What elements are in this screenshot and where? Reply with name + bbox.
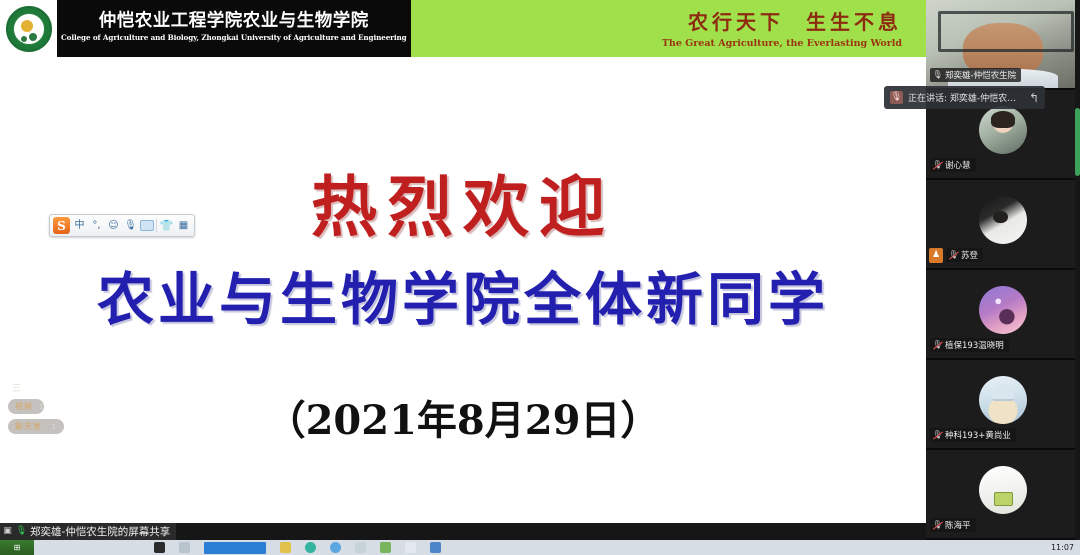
taskbar-active-window[interactable] [204, 542, 266, 554]
mic-icon: 🎙 [16, 526, 27, 537]
participant-video-strip[interactable]: 🎙 郑奕雄-仲恺农生院 🎙 谢心慧 ♟ 🎙 苏登 🎙 植保193温晓明 [926, 0, 1080, 540]
input-mode-chinese-icon[interactable]: 中 [72, 218, 87, 233]
participant-tile-5[interactable]: 🎙 陈海平 [926, 450, 1080, 540]
taskbar-app-icon-6[interactable] [355, 542, 366, 553]
slide-body: 热烈欢迎 农业与生物学院全体新同学 （2021年8月29日） [0, 57, 926, 523]
participant-tile-0[interactable]: 🎙 郑奕雄-仲恺农生院 [926, 0, 1080, 90]
participant-name: 植保193温晓明 [945, 339, 1004, 351]
mic-muted-icon: 🎙 [933, 161, 942, 170]
share-owner-label: ▣ 🎙 郑奕雄-仲恺农生院的屏幕共享 [0, 523, 176, 540]
windows-taskbar[interactable]: ⊞ 11:07 [0, 540, 1080, 555]
share-footer-bar: ▣ 🎙 郑奕雄-仲恺农生院的屏幕共享 [0, 523, 926, 540]
slide-audience-title: 农业与生物学院全体新同学 [0, 254, 926, 336]
motto-cn: 农行天下生生不息 [688, 6, 902, 35]
taskbar-app-icon-5[interactable] [330, 542, 341, 553]
mic-icon: 🎙 [933, 71, 942, 80]
participant-name: 郑奕雄-仲恺农生院 [945, 69, 1016, 81]
participant-tile-3[interactable]: 🎙 植保193温晓明 [926, 270, 1080, 360]
participant-scrollbar[interactable] [1075, 0, 1080, 540]
soft-keyboard-icon[interactable] [140, 220, 154, 231]
ghost-note: 三 [12, 381, 21, 394]
mic-muted-icon: 🎙 [949, 251, 958, 260]
share-owner-text: 郑奕雄-仲恺农生院的屏幕共享 [30, 524, 170, 539]
start-button-icon[interactable]: ⊞ [0, 540, 34, 555]
mic-muted-icon: 🎙 [933, 431, 942, 440]
participant-tile-2[interactable]: ♟ 🎙 苏登 [926, 180, 1080, 270]
floating-chat-pill-count: 1 [52, 423, 57, 431]
participant-name: 种科193+黄尚业 [945, 429, 1011, 441]
mic-muted-icon: 🎙 [933, 341, 942, 350]
floating-video-pill-label: 视频 [15, 401, 33, 412]
participant-name: 陈海平 [945, 519, 971, 531]
taskbar-app-icon-7[interactable] [380, 542, 391, 553]
taskbar-items[interactable] [154, 542, 441, 554]
participant-name-chip: 🎙 苏登 [946, 248, 983, 262]
collapse-icon[interactable]: ↰ [1029, 92, 1039, 104]
participant-scrollbar-thumb[interactable] [1075, 108, 1080, 176]
participant-name-chip: 🎙 植保193温晓明 [930, 338, 1009, 352]
taskbar-app-icon-2[interactable] [179, 542, 190, 553]
meeting-screen-share-window: 仲恺农业工程学院农业与生物学院 College of Agriculture a… [0, 0, 1080, 555]
sogou-ime-toolbar[interactable]: S 中 °, ☺ 🎙 👕 ▦ [49, 214, 195, 237]
host-badge-icon: ♟ [929, 248, 943, 263]
motto-en: The Great Agriculture, the Everlasting W… [662, 38, 902, 49]
active-speaker-indicator[interactable]: 🎙 正在讲话: 郑奕雄-仲恺农… ↰ [884, 86, 1045, 109]
college-name-cn: 仲恺农业工程学院农业与生物学院 [99, 12, 369, 31]
slide-banner: 仲恺农业工程学院农业与生物学院 College of Agriculture a… [0, 0, 926, 57]
participant-name: 苏登 [961, 249, 978, 261]
toolbar-divider [156, 219, 157, 232]
participant-tile-4[interactable]: 🎙 种科193+黄尚业 [926, 360, 1080, 450]
toolbox-icon[interactable]: ▦ [176, 218, 191, 233]
avatar [979, 466, 1027, 514]
taskbar-app-icon-4[interactable] [305, 542, 316, 553]
participant-name-chip: 🎙 郑奕雄-仲恺农生院 [930, 68, 1021, 82]
screen-share-icon: ▣ [2, 526, 13, 537]
mic-muted-icon: 🎙 [933, 521, 942, 530]
avatar [979, 376, 1027, 424]
taskbar-app-icon-8[interactable] [405, 542, 416, 553]
floating-video-pill-count: 1 [39, 403, 44, 411]
participant-name: 谢心慧 [945, 159, 971, 171]
avatar [979, 286, 1027, 334]
floating-chat-pill[interactable]: 聊天室 1 [8, 419, 64, 434]
voice-input-icon[interactable]: 🎙 [123, 218, 138, 233]
college-name-block: 仲恺农业工程学院农业与生物学院 College of Agriculture a… [57, 0, 411, 57]
participant-name-chip: 🎙 谢心慧 [930, 158, 976, 172]
participant-name-chip: 🎙 种科193+黄尚业 [930, 428, 1016, 442]
sogou-logo-icon[interactable]: S [53, 217, 70, 234]
university-emblem-icon [0, 0, 57, 57]
skin-theme-icon[interactable]: 👕 [159, 218, 174, 233]
taskbar-clock[interactable]: 11:07 [1051, 543, 1074, 552]
floating-chat-pill-label: 聊天室 [15, 421, 42, 432]
shared-screen-content: 仲恺农业工程学院农业与生物学院 College of Agriculture a… [0, 0, 926, 540]
taskbar-app-icon-9[interactable] [430, 542, 441, 553]
avatar [979, 196, 1027, 244]
motto-block: 农行天下生生不息 The Great Agriculture, the Ever… [411, 0, 926, 57]
college-name-en: College of Agriculture and Biology, Zhon… [61, 34, 407, 43]
punctuation-toggle-icon[interactable]: °, [89, 218, 104, 233]
taskbar-app-icon-1[interactable] [154, 542, 165, 553]
mic-icon: 🎙 [890, 91, 903, 104]
avatar [979, 106, 1027, 154]
slide-date: （2021年8月29日） [0, 388, 926, 446]
taskbar-app-icon-3[interactable] [280, 542, 291, 553]
emoji-picker-icon[interactable]: ☺ [106, 218, 121, 233]
floating-video-pill[interactable]: 视频 1 [8, 399, 44, 414]
active-speaker-text: 正在讲话: 郑奕雄-仲恺农… [908, 91, 1024, 104]
participant-name-chip: 🎙 陈海平 [930, 518, 976, 532]
